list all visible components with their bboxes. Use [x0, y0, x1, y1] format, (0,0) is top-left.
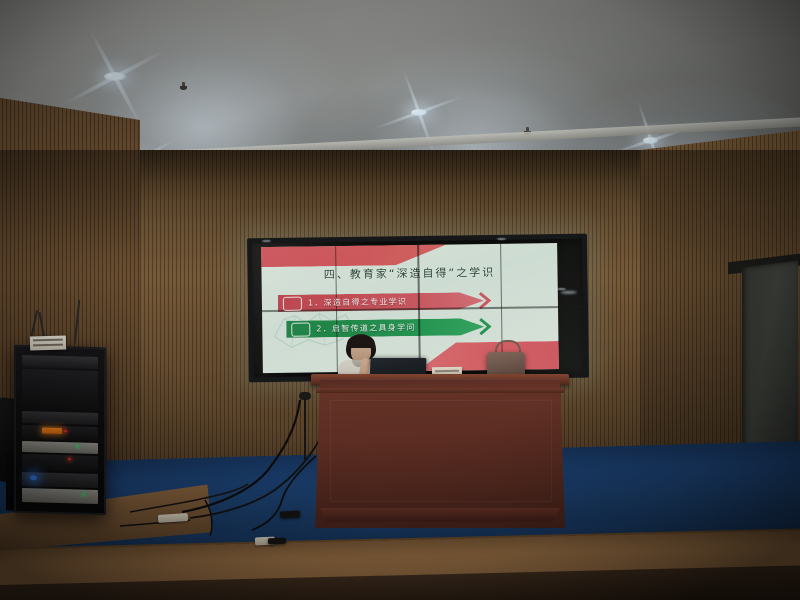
bezel-glint: [497, 238, 506, 240]
status-led-red: [68, 458, 71, 460]
podium-front-panel: [330, 400, 552, 502]
status-display: [42, 427, 62, 434]
rack-unit: [22, 369, 98, 411]
status-led-red: [64, 430, 67, 432]
podium-molding: [316, 388, 564, 393]
lecture-hall-photo: 四、教育家“深造自得”之学识 1．深造自得之专业学识 2．启智传道之具身学问: [0, 0, 800, 600]
bezel-glint: [557, 288, 566, 290]
slide-red-banner-top: [261, 243, 451, 267]
rack-unit-power: [22, 488, 98, 504]
screen-reflection: [561, 291, 577, 294]
ceiling-downlight: [104, 72, 126, 81]
rack-unit: [22, 454, 98, 472]
presenter-bangs: [347, 336, 375, 348]
cable-connector: [268, 538, 286, 545]
equipment-rack[interactable]: [14, 345, 106, 516]
ceiling-downlight: [411, 109, 427, 116]
ceiling-downlight: [643, 137, 658, 144]
rack-label-card: [30, 336, 66, 351]
sprinkler-head-icon: [180, 82, 187, 91]
status-led-blue: [30, 475, 37, 480]
microphone-stand: [304, 398, 306, 460]
bullet-1-label: 1．深造自得之专业学识: [308, 296, 408, 308]
rack-unit: [22, 355, 98, 369]
podium-base: [320, 508, 560, 522]
rack-unit: [22, 411, 98, 425]
bezel-glint: [262, 240, 271, 242]
cable-connector: [280, 510, 300, 518]
status-led-green: [82, 494, 85, 496]
slide-title: 四、教育家“深造自得”之学识: [261, 263, 557, 283]
rack-unit-amplifier: [22, 441, 98, 454]
status-led-green: [76, 445, 79, 447]
bullet-2-badge: [291, 322, 310, 336]
chevron-right-icon: [479, 318, 497, 335]
bullet-2-label: 2．启智传道之具身学问: [316, 322, 416, 334]
bullet-1-badge: [283, 296, 302, 310]
